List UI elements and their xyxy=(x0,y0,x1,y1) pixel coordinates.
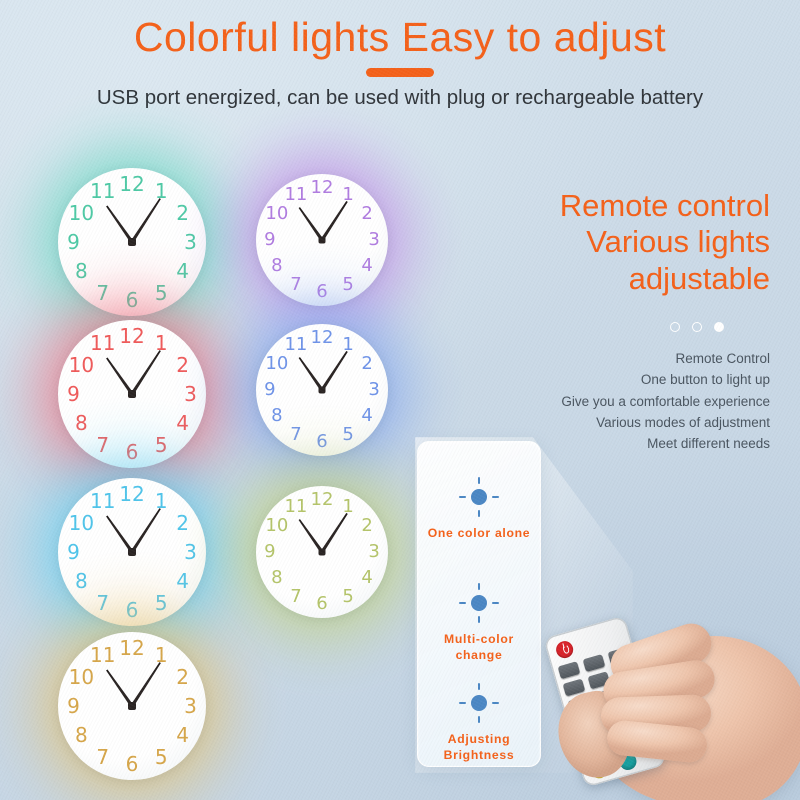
clock-numeral: 5 xyxy=(155,747,168,767)
clock-numeral: 10 xyxy=(265,205,288,223)
clock-numeral: 9 xyxy=(264,231,275,249)
clock-numeral: 7 xyxy=(96,747,109,767)
mode-label: One color alone xyxy=(418,525,540,541)
clock-numeral: 11 xyxy=(284,498,307,516)
carousel-dot-3[interactable] xyxy=(714,322,724,332)
clock-numeral: 11 xyxy=(90,645,115,665)
clock-hub xyxy=(319,387,326,394)
clock-numeral: 2 xyxy=(176,355,189,375)
mode-label: AdjustingBrightness xyxy=(418,731,540,764)
clock-numeral: 9 xyxy=(264,543,275,561)
clock-numeral: 1 xyxy=(155,491,168,511)
promo-image: Colorful lights Easy to adjust USB port … xyxy=(0,0,800,800)
clock-numeral: 11 xyxy=(90,181,115,201)
mode-label: Multi-colorchange xyxy=(418,631,540,664)
clock-numeral: 11 xyxy=(284,336,307,354)
mode-one-color-alone[interactable]: One color alone xyxy=(418,476,540,541)
clock-gold: 121234567891011 xyxy=(0,572,266,800)
clock-numeral: 7 xyxy=(290,588,301,606)
clock-numeral: 10 xyxy=(265,355,288,373)
clock-numeral: 3 xyxy=(368,381,379,399)
carousel-dot-1[interactable] xyxy=(670,322,680,332)
clock-numeral: 12 xyxy=(119,326,144,346)
clock-numeral: 4 xyxy=(361,407,372,425)
clock-hub xyxy=(128,238,136,246)
clock-numeral: 6 xyxy=(126,754,139,774)
clock-hub xyxy=(128,702,136,710)
clock-numeral: 2 xyxy=(176,667,189,687)
mode-multi-color-change[interactable]: Multi-colorchange xyxy=(418,582,540,664)
clock-numeral: 2 xyxy=(361,517,372,535)
remote-key[interactable] xyxy=(558,661,581,679)
clock-numeral: 12 xyxy=(119,174,144,194)
clock-numeral: 9 xyxy=(67,384,80,404)
clock-numeral: 12 xyxy=(119,484,144,504)
clock-numeral: 3 xyxy=(184,232,197,252)
clock-numeral: 8 xyxy=(75,725,88,745)
clock-numeral: 10 xyxy=(69,203,94,223)
clock-hub xyxy=(128,548,136,556)
clock-numeral: 10 xyxy=(69,513,94,533)
clock-numeral: 12 xyxy=(311,329,334,347)
clock-numeral: 9 xyxy=(67,232,80,252)
clock-numeral: 10 xyxy=(265,517,288,535)
clock-numeral: 11 xyxy=(90,491,115,511)
clock-hub xyxy=(128,390,136,398)
clock-numeral: 1 xyxy=(342,186,353,204)
clock-numeral: 3 xyxy=(184,696,197,716)
clock-numeral: 3 xyxy=(184,384,197,404)
mode-adjusting-brightness[interactable]: AdjustingBrightness xyxy=(418,682,540,764)
clock-numeral: 1 xyxy=(342,336,353,354)
clock-numeral: 5 xyxy=(342,588,353,606)
clock-numeral: 9 xyxy=(67,542,80,562)
clock-numeral: 1 xyxy=(155,181,168,201)
clock-numeral: 2 xyxy=(361,355,372,373)
clock-numeral: 11 xyxy=(284,186,307,204)
clock-numeral: 3 xyxy=(368,543,379,561)
remote-key[interactable] xyxy=(583,654,606,672)
clock-numeral: 6 xyxy=(316,595,327,613)
clock-numeral: 1 xyxy=(155,645,168,665)
clock-numeral: 1 xyxy=(155,333,168,353)
clock-numeral: 3 xyxy=(368,231,379,249)
clock-numeral: 2 xyxy=(361,205,372,223)
clock-numeral: 9 xyxy=(264,381,275,399)
clock-numeral: 4 xyxy=(176,725,189,745)
page-subheadline: USB port energized, can be used with plu… xyxy=(0,86,800,110)
clock-numeral: 1 xyxy=(342,498,353,516)
clock-hub xyxy=(319,237,326,244)
clock-numeral: 11 xyxy=(90,333,115,353)
clock-numeral: 10 xyxy=(69,667,94,687)
brightness-sun-icon xyxy=(458,682,500,724)
hand-holding-remote xyxy=(545,600,800,800)
carousel-dots[interactable] xyxy=(670,322,724,332)
clock-numeral: 9 xyxy=(67,696,80,716)
headline-divider xyxy=(366,68,434,77)
clock-numeral: 10 xyxy=(69,355,94,375)
brightness-sun-icon xyxy=(458,476,500,518)
modes-panel-card: One color alone Multi-colorchange Adjust… xyxy=(417,441,541,767)
page-headline: Colorful lights Easy to adjust xyxy=(0,14,800,61)
clock-hub xyxy=(319,549,326,556)
clock-numeral: 12 xyxy=(119,638,144,658)
power-button-icon[interactable] xyxy=(554,639,575,660)
clock-numeral: 3 xyxy=(184,542,197,562)
clock-numeral: 12 xyxy=(311,179,334,197)
clock-numeral: 4 xyxy=(361,569,372,587)
carousel-dot-2[interactable] xyxy=(692,322,702,332)
clock-numeral: 8 xyxy=(271,569,282,587)
clock-numeral: 2 xyxy=(176,203,189,223)
clock-numeral: 8 xyxy=(271,407,282,425)
brightness-sun-icon xyxy=(458,582,500,624)
clock-numeral: 2 xyxy=(176,513,189,533)
clock-numeral: 12 xyxy=(311,491,334,509)
